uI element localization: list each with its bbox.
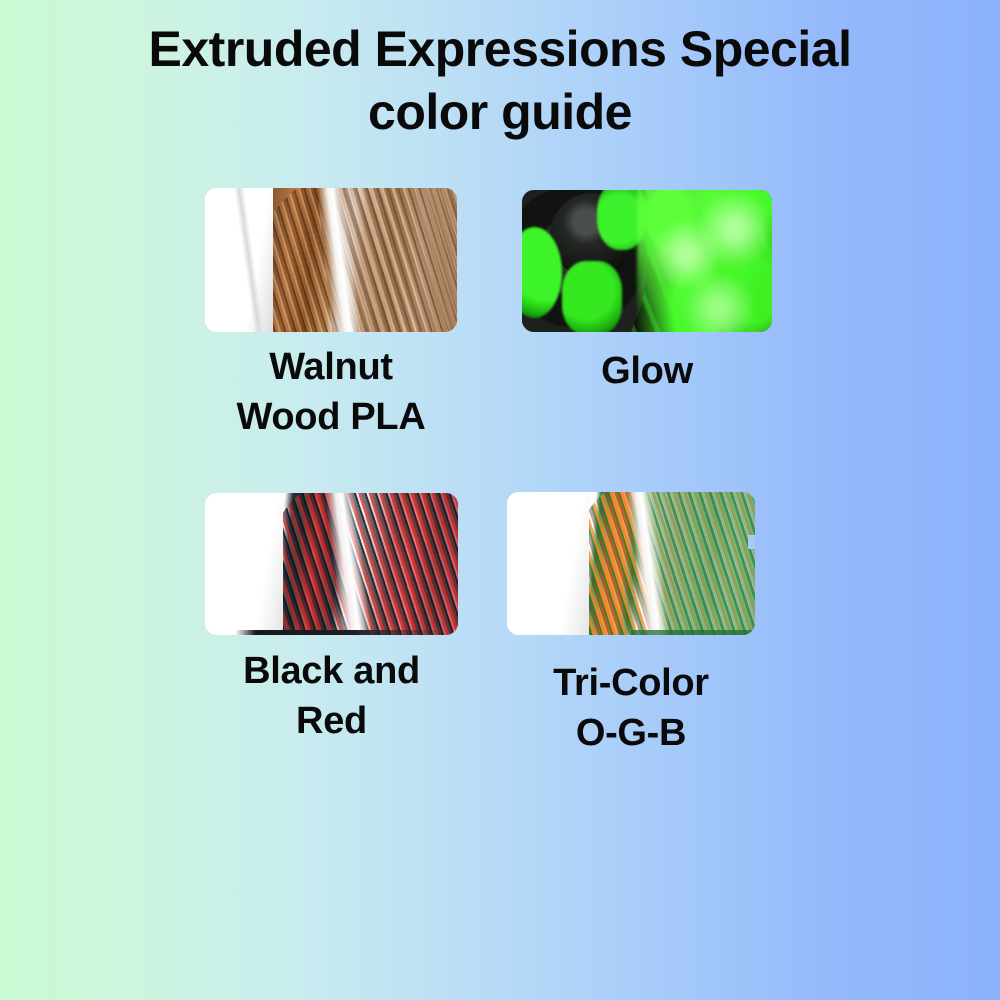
spool-bottom-edge (205, 630, 458, 635)
swatch-image-tri-color[interactable] (507, 492, 755, 635)
swatch-card-tri-color[interactable]: Tri-Color O-G-B (507, 492, 755, 635)
swatch-card-black-and-red[interactable]: Black and Red (205, 493, 458, 635)
filament-spool-graphic-black-and-red (205, 493, 458, 635)
spool-bottom-edge (507, 630, 755, 635)
spool-corner-notch (748, 535, 755, 549)
spool-flange-white (507, 492, 589, 635)
swatch-label-tri-color: Tri-Color O-G-B (471, 658, 791, 758)
swatch-label-glow: Glow (487, 346, 807, 396)
color-guide-poster: Extruded Expressions Special color guide… (0, 0, 1000, 1000)
page-title: Extruded Expressions Special color guide (60, 18, 940, 144)
swatch-label-black-and-red: Black and Red (170, 646, 493, 746)
filament-spool-graphic-tri-color (507, 492, 755, 635)
swatch-image-black-and-red[interactable] (205, 493, 458, 635)
filament-spool-graphic-walnut (205, 188, 457, 332)
glow-filament-highlights (652, 190, 767, 332)
swatch-label-walnut: Walnut Wood PLA (170, 342, 492, 442)
filament-spool-graphic-glow (522, 190, 772, 332)
swatch-card-walnut[interactable]: Walnut Wood PLA (205, 188, 457, 332)
swatch-image-walnut[interactable] (205, 188, 457, 332)
swatch-image-glow[interactable] (522, 190, 772, 332)
glow-filament-window-bottom (562, 261, 622, 332)
spool-flange-white (205, 493, 283, 635)
swatch-card-glow[interactable]: Glow (522, 190, 772, 332)
